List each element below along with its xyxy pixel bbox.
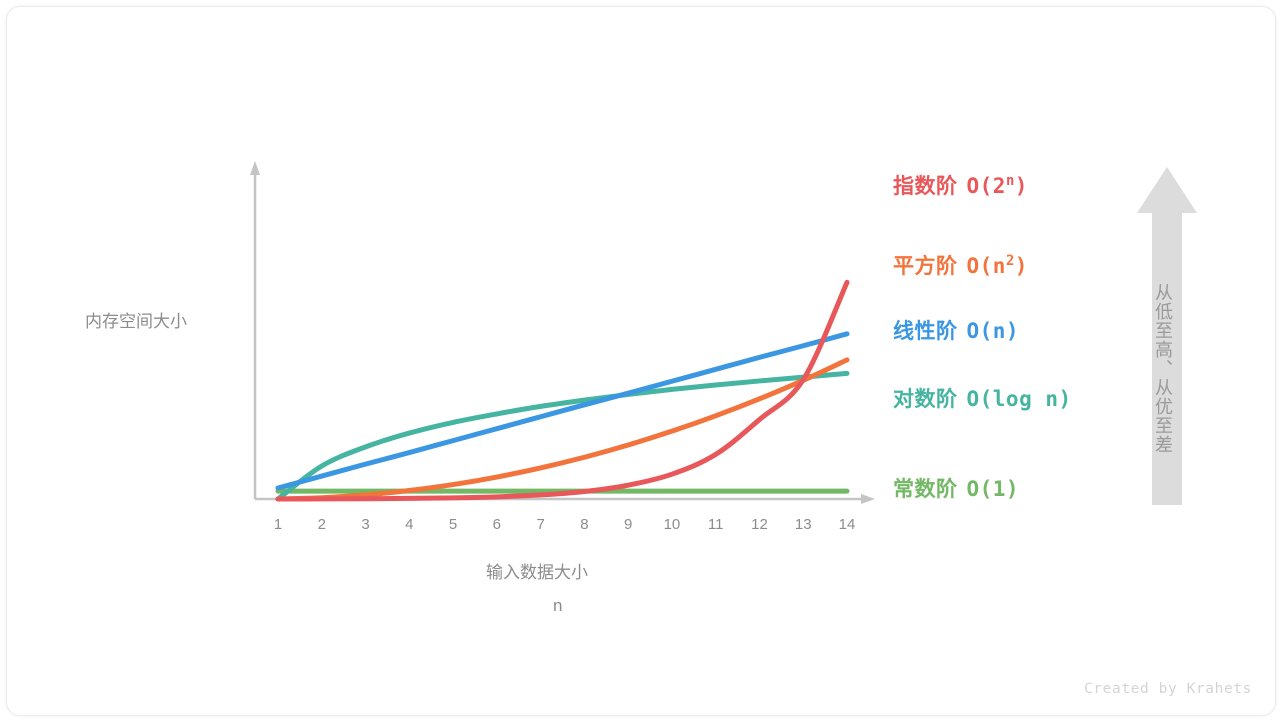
legend-label: 线性阶 xyxy=(893,320,958,343)
ranking-arrow-label: 从低至高、从优至差 xyxy=(1150,243,1184,493)
credit-text: Created by Krahets xyxy=(1084,681,1252,697)
legend-notation: O(n) xyxy=(967,319,1020,343)
legend-notation: O(1) xyxy=(967,477,1020,501)
x-tick-label: 12 xyxy=(744,516,774,533)
legend-label: 平方阶 xyxy=(893,255,958,278)
x-tick-label: 3 xyxy=(351,516,381,533)
x-tick-label: 13 xyxy=(788,516,818,533)
y-axis-label: 内存空间大小 xyxy=(85,307,187,332)
y-axis xyxy=(250,161,260,499)
legend-item-exponential: 指数阶O(2n) xyxy=(893,170,1028,200)
series-curves xyxy=(278,282,847,499)
x-tick-label: 7 xyxy=(526,516,556,533)
chart-stage: 内存空间大小 输入数据大小 n 1234567891011121314 常数阶O… xyxy=(7,7,1276,716)
legend-label: 常数阶 xyxy=(893,478,958,501)
x-tick-label: 9 xyxy=(613,516,643,533)
legend-item-linear: 线性阶O(n) xyxy=(893,315,1019,345)
x-tick-label: 10 xyxy=(657,516,687,533)
legend-item-quadratic: 平方阶O(n2) xyxy=(893,250,1028,280)
legend-label: 对数阶 xyxy=(893,388,958,411)
x-tick-label: 8 xyxy=(569,516,599,533)
x-axis-variable-label: n xyxy=(553,596,562,616)
x-tick-label: 1 xyxy=(263,516,293,533)
legend-label: 指数阶 xyxy=(893,175,958,198)
x-tick-label: 6 xyxy=(482,516,512,533)
x-tick-label: 2 xyxy=(307,516,337,533)
legend-item-constant: 常数阶O(1) xyxy=(893,473,1019,503)
x-tick-label: 14 xyxy=(832,516,862,533)
chart-card: 内存空间大小 输入数据大小 n 1234567891011121314 常数阶O… xyxy=(6,6,1276,716)
legend-notation: O(log n) xyxy=(967,387,1072,411)
x-tick-label: 4 xyxy=(394,516,424,533)
legend-notation: O(2n) xyxy=(967,174,1028,198)
series-curve-logarithmic xyxy=(278,373,847,499)
x-tick-label: 5 xyxy=(438,516,468,533)
legend-notation: O(n2) xyxy=(967,254,1028,278)
x-axis-label: 输入数据大小 xyxy=(486,558,588,583)
legend-item-logarithmic: 对数阶O(log n) xyxy=(893,383,1072,413)
x-tick-label: 11 xyxy=(701,516,731,533)
chart-plot-area xyxy=(7,7,1276,716)
